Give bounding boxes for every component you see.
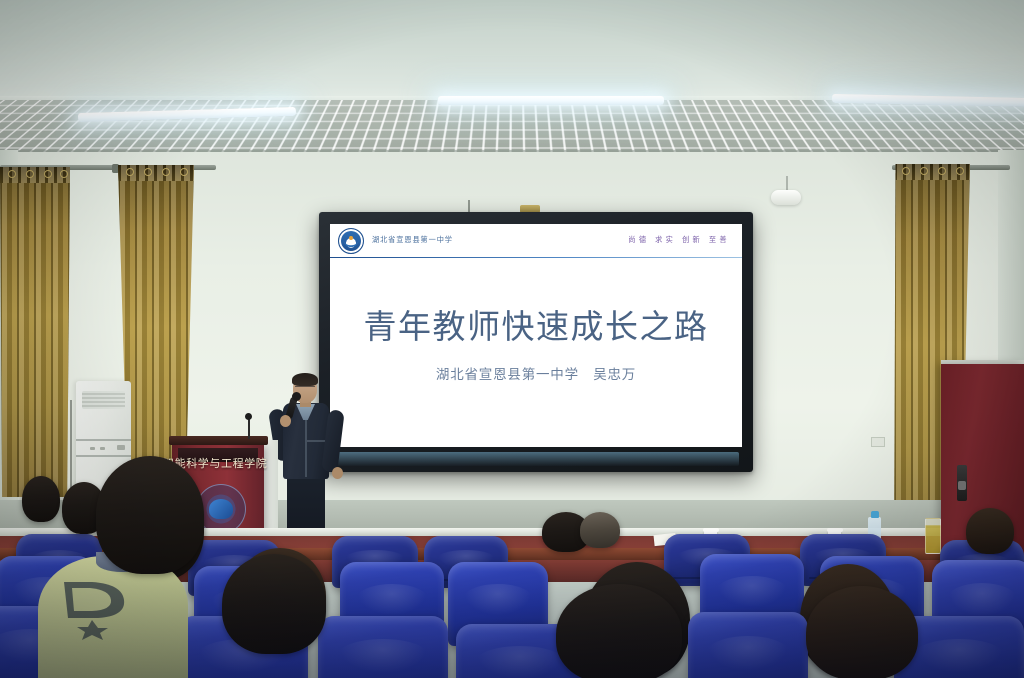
gooseneck-microphone-icon — [245, 413, 252, 420]
presenter-glasses-icon — [295, 386, 315, 390]
slide-header: 湖北省宣恩县第一中学 尚德 求实 创新 至善 — [330, 224, 742, 257]
presenter-left-hand — [280, 415, 291, 427]
curtain-rail-bracket — [112, 164, 119, 173]
presenter-hair — [292, 373, 318, 386]
audience-head-back-5 — [966, 508, 1014, 554]
presentation-slide: 湖北省宣恩县第一中学 尚德 求实 创新 至善 青年教师快速成长之路 湖北省宣恩县… — [330, 224, 742, 447]
tshirt-graphic-icon — [58, 576, 146, 640]
presenter-right-hand — [332, 467, 343, 479]
door-lock-icon[interactable] — [958, 481, 966, 490]
audience-head-back-1 — [22, 476, 60, 522]
slide-subtitle-author: 湖北省宣恩县第一中学 吴忠万 — [330, 363, 742, 383]
audience-head-front-center — [556, 584, 682, 678]
display-bottom-glare — [333, 452, 739, 466]
ceiling-soffit — [0, 0, 1024, 108]
seat-row1-5[interactable] — [688, 612, 808, 678]
audience-head-front-tshirt — [96, 456, 204, 574]
school-crest-logo — [338, 228, 364, 254]
audience-head-front-right — [806, 586, 918, 678]
presenter-pocket — [307, 440, 325, 442]
presentation-display[interactable]: 湖北省宣恩县第一中学 尚德 求实 创新 至善 青年教师快速成长之路 湖北省宣恩县… — [319, 212, 753, 472]
slide-school-name: 湖北省宣恩县第一中学 — [372, 235, 453, 245]
podium-desktop — [169, 436, 268, 445]
wall-speaker-icon — [771, 190, 801, 205]
curtain-left-far — [0, 167, 70, 497]
seat-row1-3[interactable] — [318, 616, 448, 678]
wall-outlet — [871, 437, 885, 447]
presenter-legs — [287, 474, 325, 532]
slide-header-divider — [330, 257, 742, 258]
audience-head-front-left — [222, 554, 326, 654]
tea-glass — [925, 518, 941, 554]
display-screen: 湖北省宣恩县第一中学 尚德 求实 创新 至善 青年教师快速成长之路 湖北省宣恩县… — [330, 224, 742, 447]
audience-head-back-4 — [580, 512, 620, 548]
lecture-hall-scene: 湖北省宣恩县第一中学 尚德 求实 创新 至善 青年教师快速成长之路 湖北省宣恩县… — [0, 0, 1024, 678]
ceiling-light-2 — [438, 96, 664, 105]
microphone-head-icon — [292, 392, 301, 401]
bottle-cap-icon — [871, 511, 879, 518]
slide-motto: 尚德 求实 创新 至善 — [628, 235, 730, 245]
gooseneck-microphone-stem — [248, 417, 250, 439]
slide-main-title: 青年教师快速成长之路 — [330, 300, 742, 348]
